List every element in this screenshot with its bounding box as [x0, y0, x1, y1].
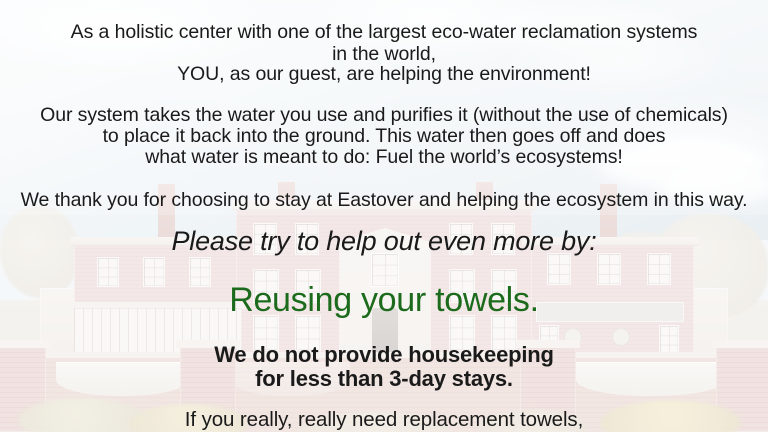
intro-line-3: YOU, as our guest, are helping the envir…	[0, 62, 768, 87]
call-to-action-action: Reusing your towels.	[0, 281, 768, 320]
footer-line: If you really, really need replacement t…	[0, 407, 768, 432]
presentation-slide: As a holistic center with one of the lar…	[0, 0, 768, 432]
thanks-line: We thank you for choosing to stay at Eas…	[0, 188, 768, 213]
housekeeping-line-1: We do not provide housekeeping	[0, 342, 768, 368]
system-line-3: what water is meant to do: Fuel the worl…	[0, 145, 768, 170]
slide-text-content: As a holistic center with one of the lar…	[0, 0, 768, 432]
call-to-action-prompt: Please try to help out even more by:	[0, 226, 768, 257]
housekeeping-line-2: for less than 3-day stays.	[0, 366, 768, 392]
